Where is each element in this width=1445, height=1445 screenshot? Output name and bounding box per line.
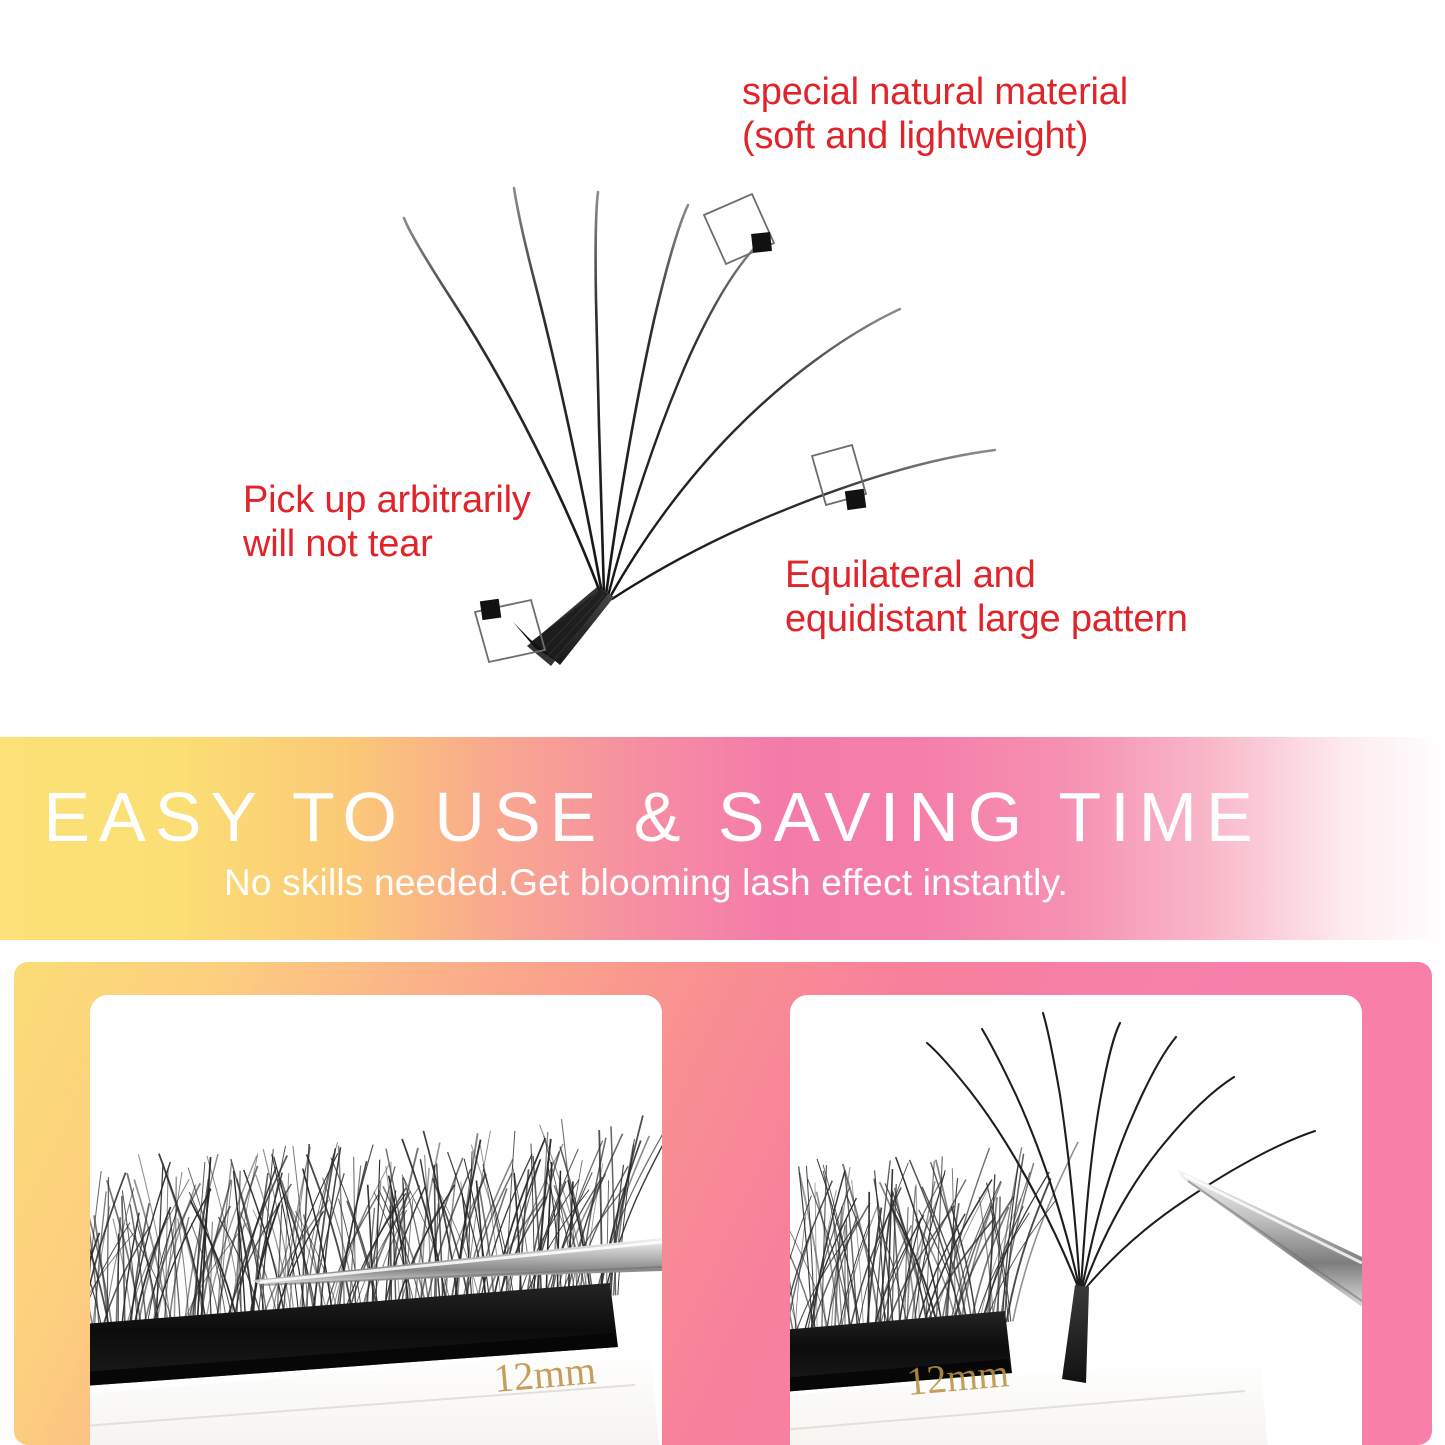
gradient-banner: EASY TO USE & SAVING TIME No skills need… xyxy=(0,737,1445,940)
photo-panel-lash-tray: 12mm xyxy=(90,995,662,1445)
lash-fan-illustration xyxy=(0,0,1445,737)
callout-equilateral-equidistant: Equilateral and equidistant large patter… xyxy=(785,553,1188,642)
photo-panel-lash-fan-pickup: 12mm xyxy=(790,995,1362,1445)
callout-marker-right xyxy=(812,445,866,510)
banner-headline: EASY TO USE & SAVING TIME xyxy=(0,782,1305,852)
length-label-right: 12mm xyxy=(905,1350,1011,1404)
banner-subtitle: No skills needed.Get blooming lash effec… xyxy=(0,864,1292,901)
callout-marker-top xyxy=(704,194,774,264)
lash-tray-photo: 12mm xyxy=(90,995,662,1445)
callout-pick-up-arbitrarily: Pick up arbitrarily will not tear xyxy=(243,478,531,567)
length-label-left: 12mm xyxy=(492,1347,598,1401)
lash-fan-pickup-photo: 12mm xyxy=(790,995,1362,1445)
product-photo-card: 12mm xyxy=(14,962,1432,1445)
callout-marker-base xyxy=(475,599,545,662)
lash-diagram-section: special natural material (soft and light… xyxy=(0,0,1445,737)
callout-special-natural-material: special natural material (soft and light… xyxy=(742,70,1128,159)
